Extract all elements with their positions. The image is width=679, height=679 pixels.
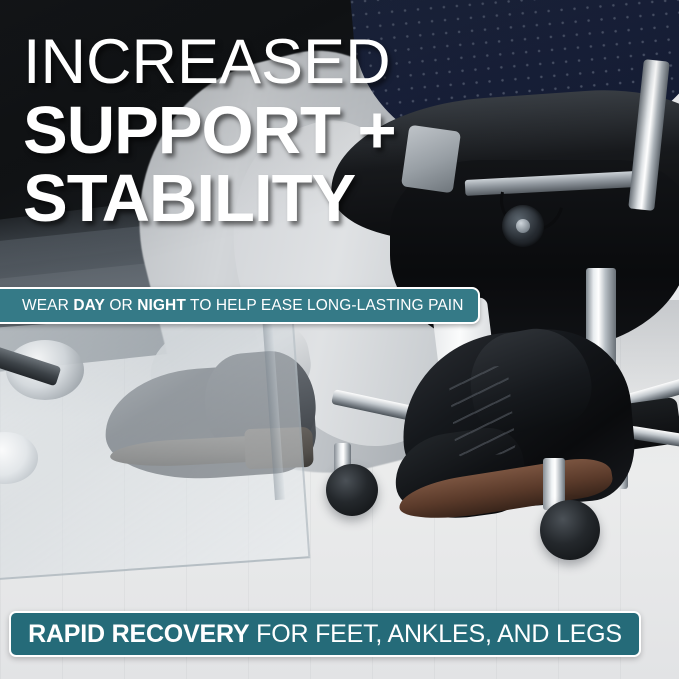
chair-caster-front: [540, 500, 600, 560]
headline-block: INCREASED SUPPORT + STABILITY: [23, 34, 643, 229]
headline-line-3: STABILITY: [23, 168, 643, 230]
subtitle-middle: OR: [105, 297, 137, 314]
subtitle-bold-night: NIGHT: [137, 297, 186, 314]
subtitle-text: WEAR DAY OR NIGHT TO HELP EASE LONG-LAST…: [22, 297, 464, 315]
chair-caster-left: [326, 464, 378, 516]
headline-line-2: SUPPORT +: [23, 100, 643, 162]
headline-line-1: INCREASED: [23, 34, 643, 92]
bottom-banner-bold: RAPID RECOVERY: [28, 620, 249, 648]
bottom-banner-text: RAPID RECOVERY FOR FEET, ANKLES, AND LEG…: [28, 620, 622, 649]
subtitle-bar: WEAR DAY OR NIGHT TO HELP EASE LONG-LAST…: [0, 287, 480, 324]
subtitle-bold-day: DAY: [73, 297, 105, 314]
bottom-banner: RAPID RECOVERY FOR FEET, ANKLES, AND LEG…: [9, 611, 641, 657]
product-marketing-image: INCREASED SUPPORT + STABILITY WEAR DAY O…: [0, 0, 679, 679]
subtitle-suffix: TO HELP EASE LONG-LASTING PAIN: [186, 297, 464, 314]
subtitle-prefix: WEAR: [22, 297, 73, 314]
black-boot-laces: [448, 365, 517, 459]
bottom-banner-rest: FOR FEET, ANKLES, AND LEGS: [249, 620, 622, 648]
